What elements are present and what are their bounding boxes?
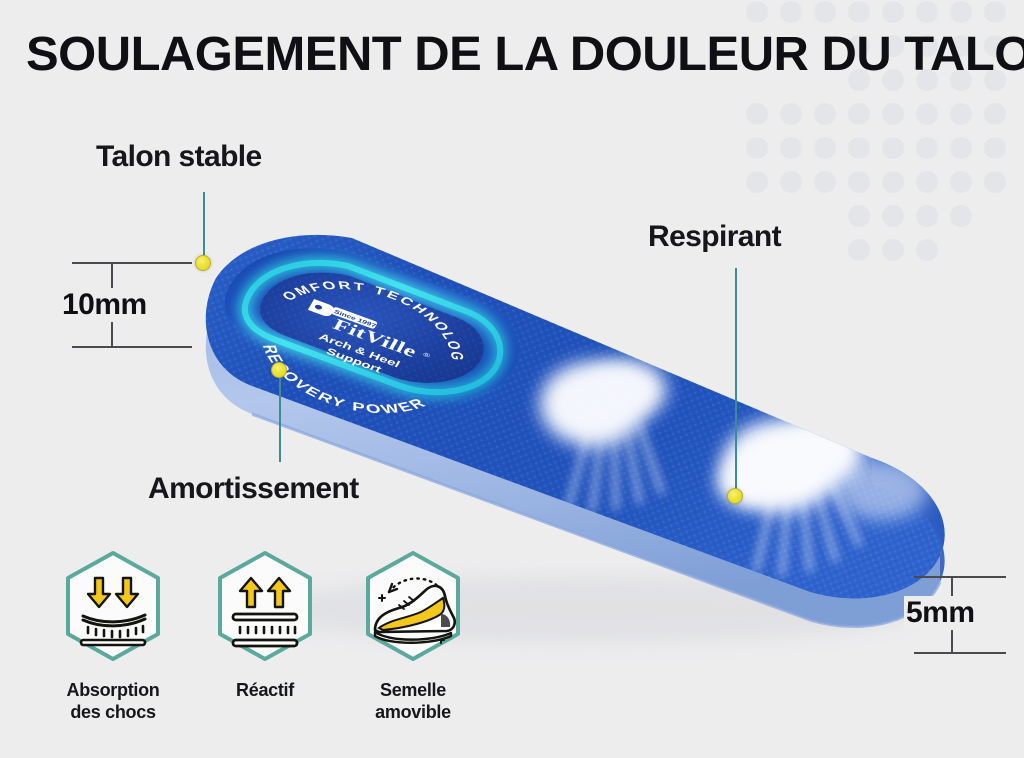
feature-item-responsive: Réactif [190, 548, 340, 701]
dimension-label-5mm: 5mm [904, 596, 977, 630]
dimension-stem-top [111, 264, 113, 290]
feature-label: Semelle amovible [338, 679, 488, 723]
leader-line-talon-stable [203, 192, 205, 262]
dimension-tick-top [72, 262, 192, 264]
dimension-label-10mm: 10mm [60, 288, 149, 322]
shoe-removable-insole-icon [355, 548, 471, 664]
callout-dot-amortissement [271, 362, 287, 378]
dimension-tick-top [914, 576, 1006, 578]
dimension-stem-bottom [951, 630, 953, 652]
page-title: SOULAGEMENT DE LA DOULEUR DU TALON [26, 30, 1024, 80]
callout-dot-respirant [727, 488, 743, 504]
callout-label-talon-stable: Talon stable [96, 140, 262, 174]
callout-label-amortissement: Amortissement [148, 472, 359, 506]
feature-label: Absorption des chocs [38, 679, 188, 723]
down-arrows-cushion-icon [55, 548, 171, 664]
up-arrows-cushion-icon [207, 548, 323, 664]
dimension-tick-bottom [72, 346, 192, 348]
feature-list: Absorption des chocs Réactif [38, 548, 508, 738]
leader-line-amortissement [279, 376, 281, 462]
dimension-stem-bottom [111, 320, 113, 346]
leader-line-respirant [735, 268, 737, 490]
callout-label-respirant: Respirant [648, 220, 781, 254]
feature-item-removable-insole: Semelle amovible [338, 548, 488, 723]
feature-item-shock-absorption: Absorption des chocs [38, 548, 188, 723]
dimension-heel-thickness: 10mm [62, 258, 202, 358]
dimension-tick-bottom [914, 652, 1006, 654]
feature-label: Réactif [190, 679, 340, 701]
dimension-toe-thickness: 5mm [906, 572, 1016, 660]
